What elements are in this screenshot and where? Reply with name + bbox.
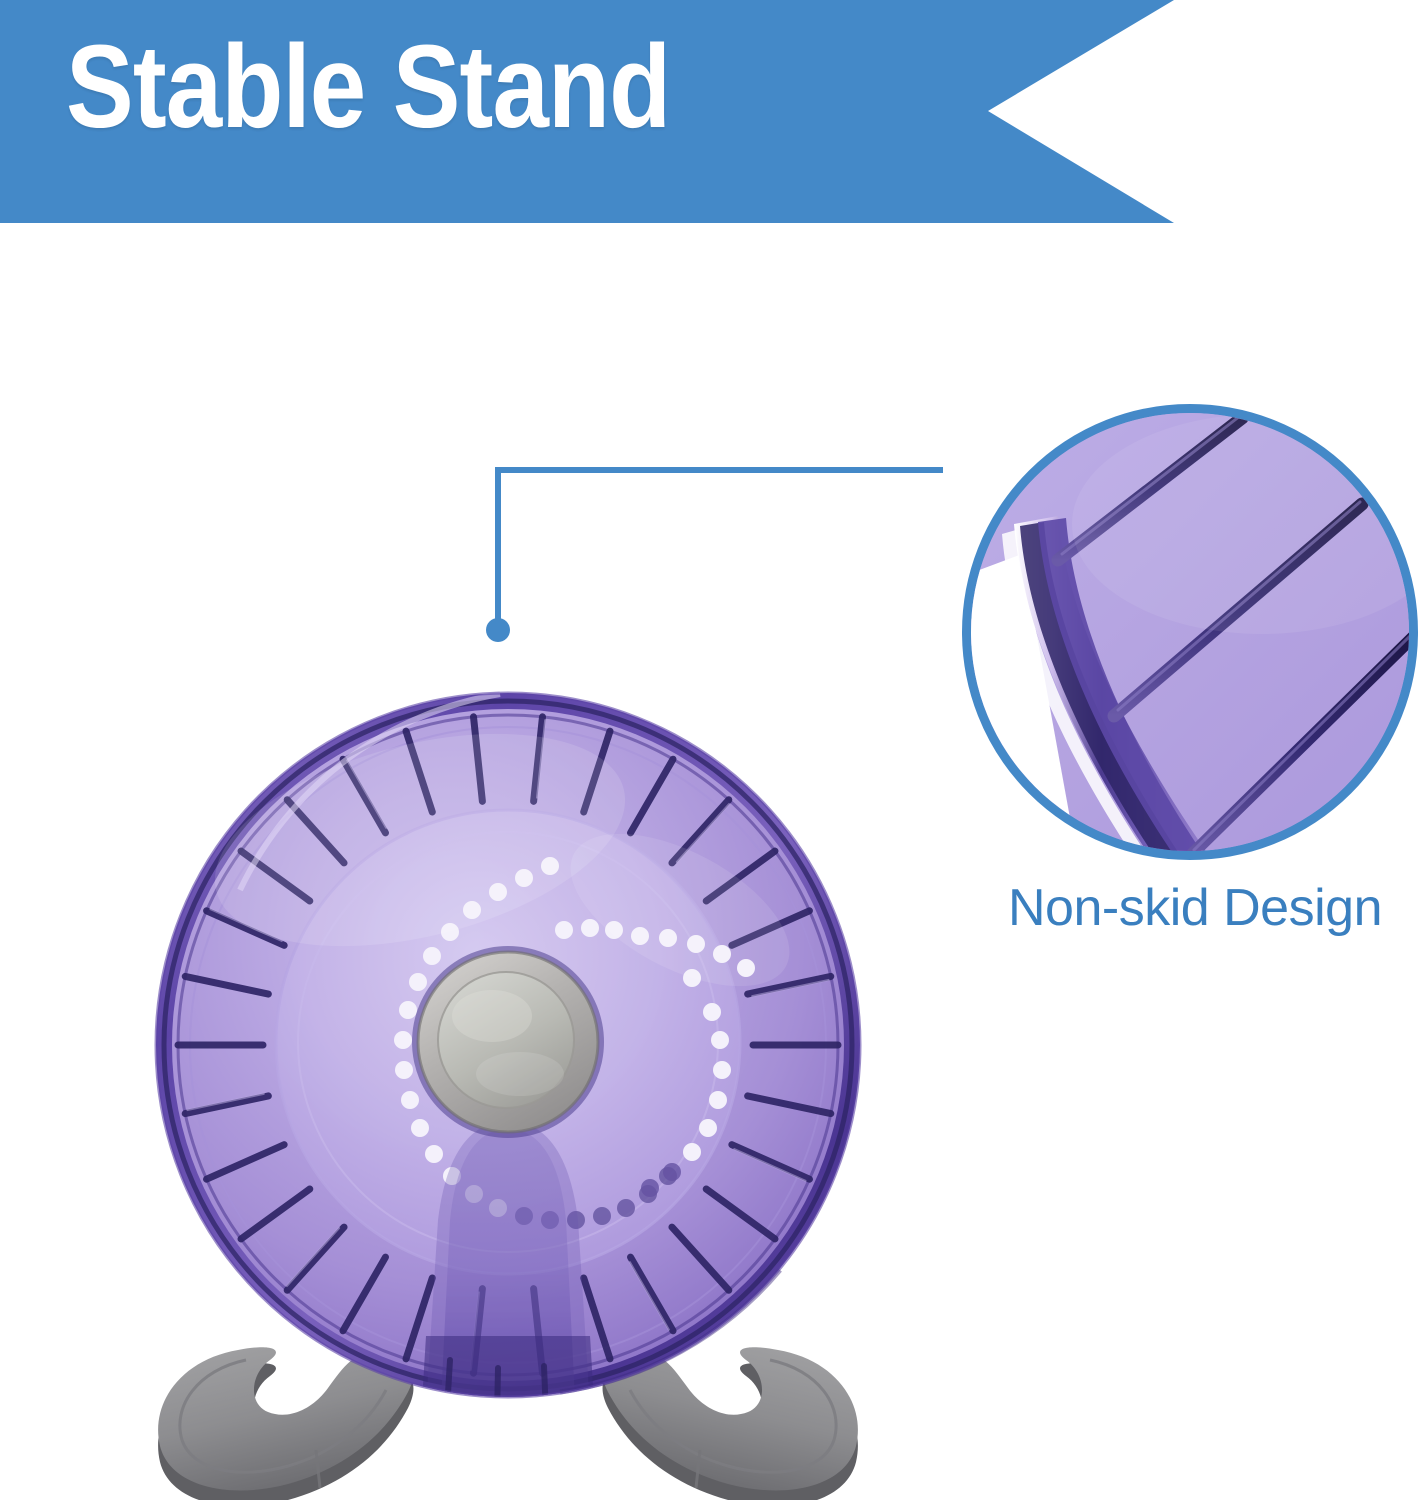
detail-zoom-circle (962, 404, 1418, 860)
callout-anchor-dot (486, 618, 510, 642)
detail-caption-label: Non-skid Design (1008, 878, 1382, 938)
detail-zoom-content (962, 404, 1418, 860)
product-exercise-wheel (120, 660, 910, 1500)
callout-leader-line (470, 450, 970, 660)
product-feature-page: Stable Stand (0, 0, 1419, 1500)
page-title: Stable Stand (66, 28, 670, 146)
wheel-hub (412, 946, 604, 1138)
